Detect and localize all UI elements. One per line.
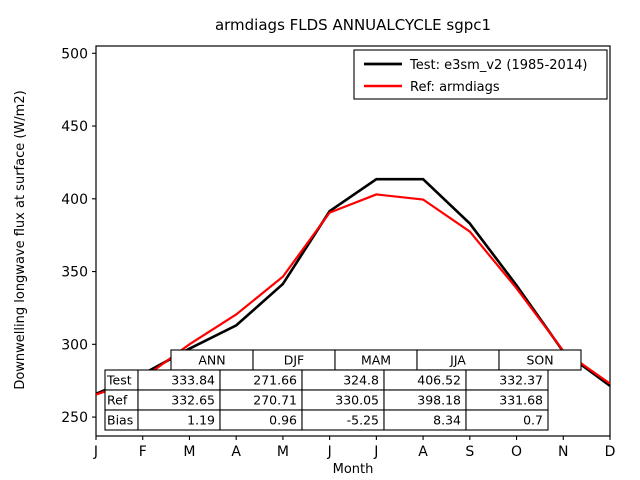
table-cell: 333.84 <box>171 373 215 388</box>
x-tick-label: J <box>373 444 378 460</box>
stats-table: ANNDJFMAMJJASONTest333.84271.66324.8406.… <box>105 350 581 430</box>
y-axis-ticks: 250300350400450500 <box>61 46 96 426</box>
page-title: armdiags FLDS ANNUALCYCLE sgpc1 <box>215 16 491 34</box>
table-cell: 271.66 <box>253 373 297 388</box>
chart-figure: armdiags FLDS ANNUALCYCLE sgpc1 Downwell… <box>0 0 640 480</box>
table-column-header: SON <box>526 353 553 368</box>
x-tick-label: A <box>231 444 241 460</box>
x-axis-ticks: JFMAMJJASOND <box>93 436 615 460</box>
table-cell: 8.34 <box>433 413 461 428</box>
table-cell: 332.37 <box>499 373 543 388</box>
x-tick-label: F <box>139 444 147 460</box>
table-column-header: ANN <box>198 353 225 368</box>
table-cell: 330.05 <box>335 393 379 408</box>
table-cell: 332.65 <box>171 393 215 408</box>
table-cell: 324.8 <box>343 373 379 388</box>
x-tick-label: O <box>511 444 522 460</box>
table-cell: 1.19 <box>187 413 215 428</box>
y-tick-label: 300 <box>61 337 88 353</box>
x-tick-label: S <box>465 444 474 460</box>
y-tick-label: 250 <box>61 410 88 426</box>
table-cell: 406.52 <box>417 373 461 388</box>
table-row-label: Bias <box>107 413 133 428</box>
table-cell: 0.7 <box>523 413 543 428</box>
table-column-header: MAM <box>361 353 391 368</box>
y-tick-label: 350 <box>61 265 88 281</box>
table-cell: 0.96 <box>269 413 297 428</box>
table-cell: -5.25 <box>347 413 379 428</box>
table-row-label: Ref <box>107 393 128 408</box>
table-cell: 270.71 <box>253 393 297 408</box>
x-axis-label: Month <box>333 462 374 477</box>
chart-legend: Test: e3sm_v2 (1985-2014)Ref: armdiags <box>354 50 607 99</box>
x-tick-label: N <box>558 444 568 460</box>
y-tick-label: 400 <box>61 192 88 208</box>
y-axis-label: Downwelling longwave flux at surface (W/… <box>13 90 28 389</box>
x-tick-label: M <box>277 444 289 460</box>
table-row-label: Test <box>106 373 132 388</box>
x-tick-label: J <box>327 444 332 460</box>
table-cell: 331.68 <box>499 393 543 408</box>
table-column-header: DJF <box>284 353 305 368</box>
x-tick-label: J <box>93 444 98 460</box>
legend-label-test: Test: e3sm_v2 (1985-2014) <box>409 58 587 73</box>
x-tick-label: D <box>605 444 616 460</box>
legend-label-ref: Ref: armdiags <box>410 80 500 95</box>
y-tick-label: 450 <box>61 119 88 135</box>
annual-cycle-line-chart: armdiags FLDS ANNUALCYCLE sgpc1 Downwell… <box>0 0 640 480</box>
table-column-header: JJA <box>449 353 466 368</box>
x-tick-label: M <box>183 444 195 460</box>
y-tick-label: 500 <box>61 46 88 62</box>
x-tick-label: A <box>418 444 428 460</box>
table-cell: 398.18 <box>417 393 461 408</box>
